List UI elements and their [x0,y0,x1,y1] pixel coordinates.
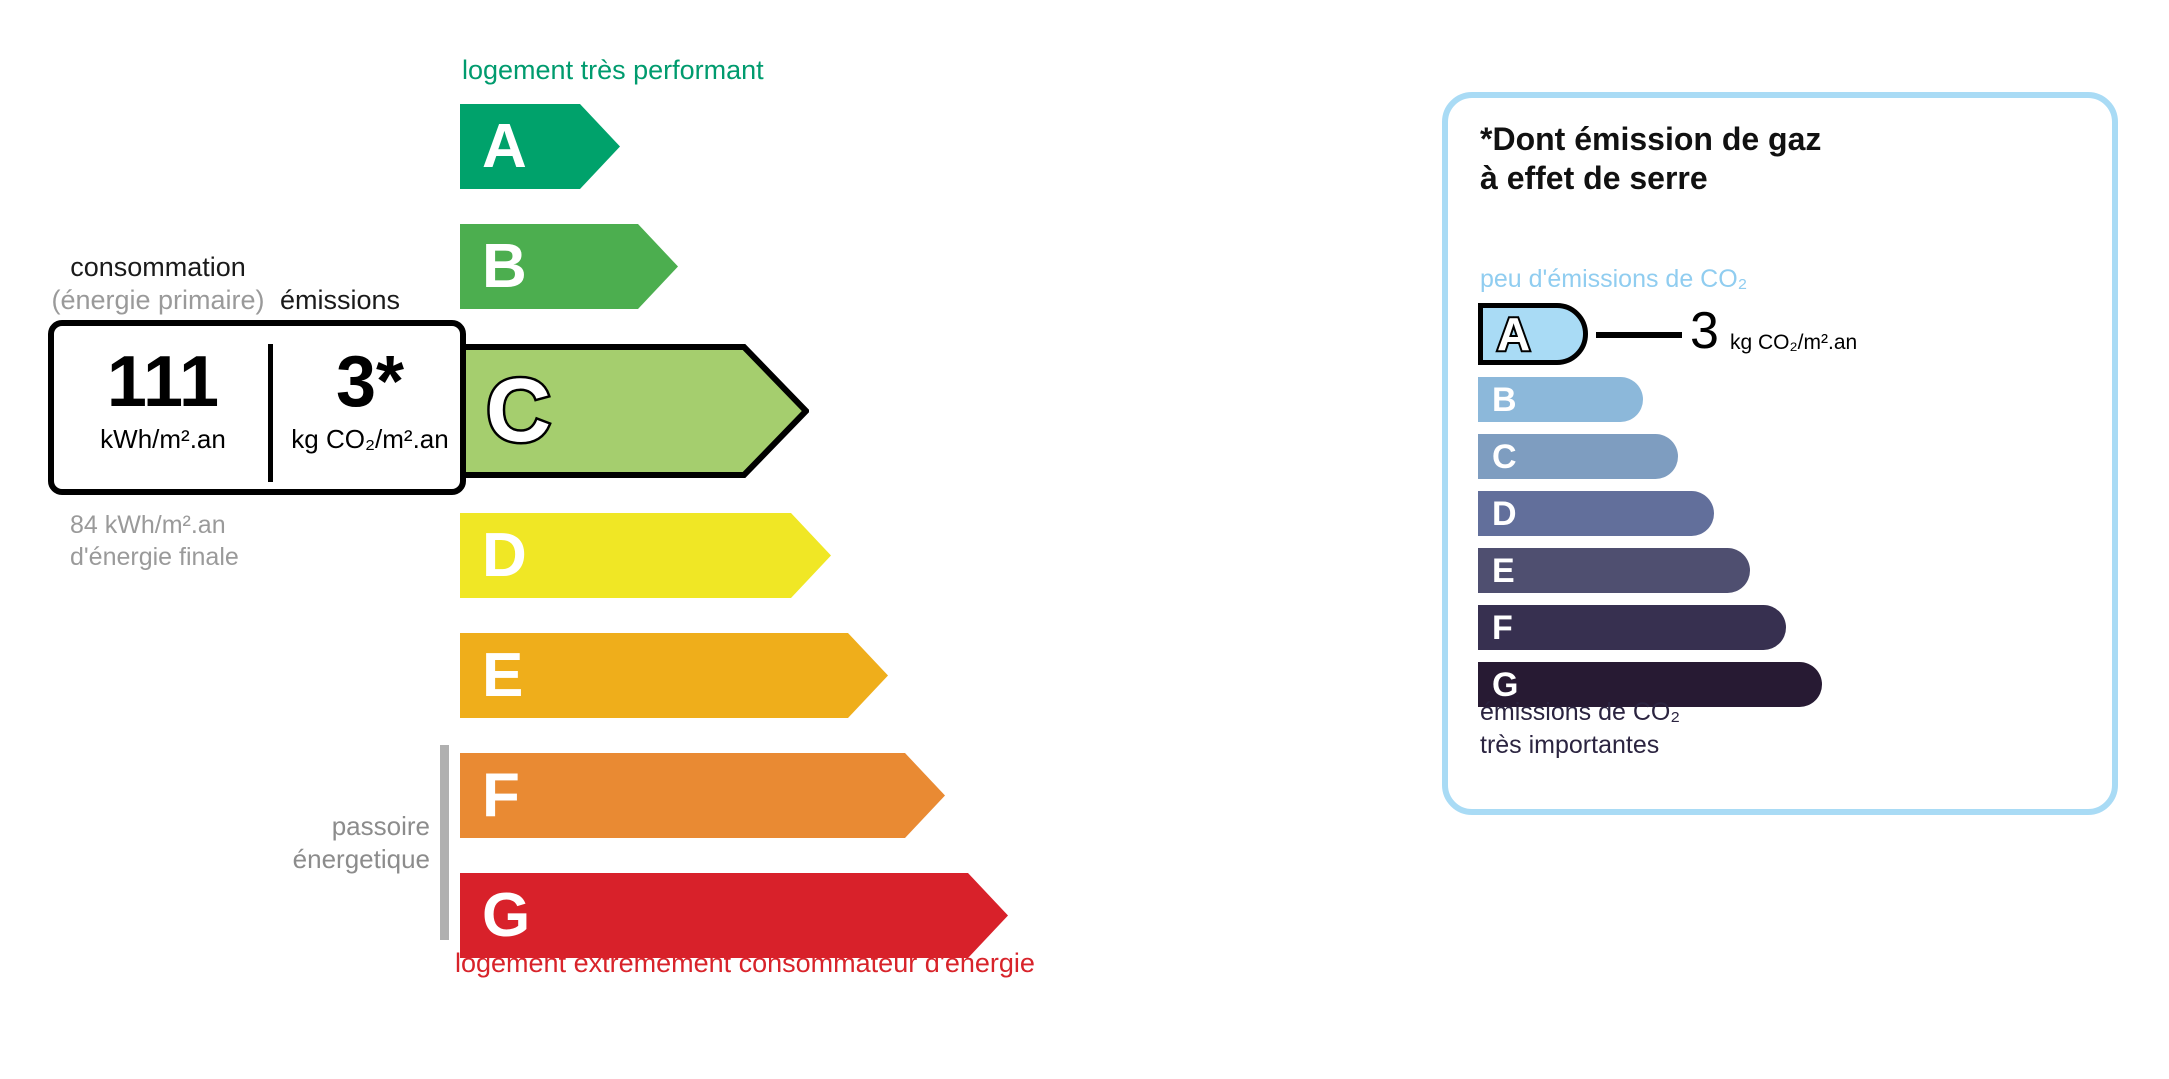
energy-performance-panel: logement très performant ABCDEFG logemen… [0,0,1400,1079]
energy-class-bar-e: E [460,633,888,718]
ghg-class-letter-f: F [1492,611,1513,645]
ghg-class-bar-f: F [1478,605,1786,650]
ghg-class-letter-c: C [1492,440,1517,474]
energy-class-letter-f: F [482,765,520,827]
ghg-class-letter-d: D [1492,497,1517,531]
energy-class-bar-shape-e [460,633,888,718]
passoire-line1: passoire [200,810,430,843]
ghg-panel-title-line1: *Dont émission de gaz [1480,120,1821,159]
ghg-panel-title: *Dont émission de gaz à effet de serre [1480,120,1821,198]
ghg-bottom-caption-line2: très importantes [1480,729,1680,762]
ghg-class-letter-a: A [1497,311,1530,357]
value-box-divider [268,344,273,482]
energy-class-letter-b: B [482,236,527,298]
consumption-value-cell: 111 kWh/m².an [62,346,264,455]
energy-top-caption: logement très performant [462,55,764,86]
ghg-class-bar-b: B [1478,377,1643,422]
emissions-header-label: émissions [280,285,400,316]
energy-class-letter-c: C [486,366,551,456]
emission-unit: kg CO₂/m².an [276,424,464,455]
final-energy-footnote-line1: 84 kWh/m².an [70,510,239,542]
emission-value: 3* [276,346,464,418]
consumption-header-label: consommation [68,252,248,283]
ghg-bottom-caption-line1: émissions de CO₂ [1480,696,1680,729]
energy-class-bars: ABCDEFG [460,104,1260,944]
energy-bottom-caption: logement extrêmement consommateur d'éner… [455,948,1035,979]
ghg-emissions-panel: *Dont émission de gaz à effet de serre p… [1442,92,2118,815]
passoire-range-indicator [440,745,449,940]
ghg-selected-row: A3kg CO₂/m².an [1478,303,1998,365]
energy-class-bar-b: B [460,224,678,309]
energy-class-bar-shape-f [460,753,945,838]
consumption-unit: kWh/m².an [62,424,264,455]
ghg-bottom-caption: émissions de CO₂ très importantes [1480,696,1680,761]
energy-class-bar-d: D [460,513,831,598]
energy-class-bar-f: F [460,753,945,838]
energy-class-letter-a: A [482,116,527,178]
consumption-header-sublabel: (énergie primaire) [48,285,268,316]
energy-class-bar-a: A [460,104,620,189]
ghg-class-bar-a: A [1478,303,1588,365]
ghg-value-unit: kg CO₂/m².an [1730,331,1857,355]
ghg-class-letter-b: B [1492,383,1517,417]
ghg-panel-title-line2: à effet de serre [1480,159,1821,198]
ghg-class-bar-e: E [1478,548,1750,593]
emission-value-cell: 3* kg CO₂/m².an [276,346,464,455]
energy-class-bar-g: G [460,873,1008,958]
ghg-class-bars: A3kg CO₂/m².anBCDEFG [1478,303,2098,688]
energy-class-bar-shape-g [460,873,1008,958]
ghg-class-bar-c: C [1478,434,1678,479]
energy-value-box: 111 kWh/m².an 3* kg CO₂/m².an [48,320,466,495]
ghg-top-caption: peu d'émissions de CO₂ [1480,265,1747,294]
energy-class-letter-g: G [482,885,530,947]
energy-class-letter-d: D [482,525,527,587]
energy-class-letter-e: E [482,645,523,707]
passoire-line2: énergetique [200,843,430,876]
final-energy-footnote-line2: d'énergie finale [70,542,239,574]
passoire-energetique-label: passoire énergetique [200,810,430,876]
consumption-value: 111 [62,346,264,418]
ghg-leader-line [1596,332,1682,338]
ghg-class-letter-e: E [1492,554,1515,588]
final-energy-footnote: 84 kWh/m².an d'énergie finale [70,510,239,573]
energy-class-bar-c: C [460,344,809,478]
ghg-value: 3 [1690,305,1719,357]
ghg-class-bar-d: D [1478,491,1714,536]
